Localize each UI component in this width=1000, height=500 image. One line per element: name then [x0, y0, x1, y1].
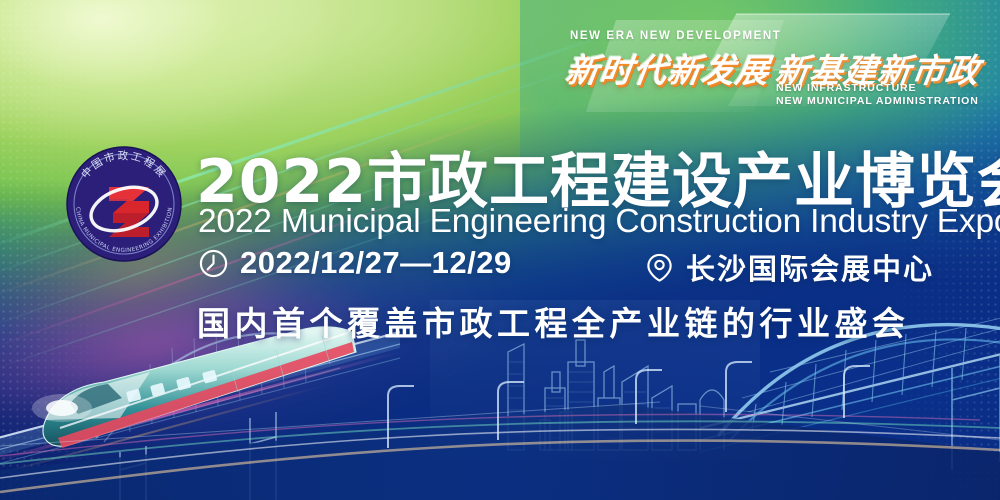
event-banner: NEW ERA NEW DEVELOPMENT 新时代新发展 新基建新市政 NE…: [0, 0, 1000, 500]
top-right-eyebrow: NEW ERA NEW DEVELOPMENT: [570, 30, 781, 42]
event-date: 2022/12/27—12/29: [198, 245, 512, 281]
top-right-headline-block: NEW ERA NEW DEVELOPMENT 新时代新发展 新基建新市政 NE…: [548, 8, 988, 120]
event-meta: 2022/12/27—12/29 长沙国际会展中心: [198, 245, 958, 287]
event-venue-text: 长沙国际会展中心: [686, 246, 934, 288]
location-pin-icon: [644, 252, 675, 283]
event-venue: 长沙国际会展中心: [644, 246, 934, 288]
top-right-subtitle-line2: NEW MUNICIPAL ADMINISTRATION: [776, 95, 979, 108]
clock-icon: [198, 248, 229, 279]
event-date-text: 2022/12/27—12/29: [240, 245, 512, 281]
event-tagline: 国内首个覆盖市政工程全产业链的行业盛会: [197, 297, 910, 345]
top-right-headline-left: 新时代新发展: [563, 44, 774, 92]
top-right-subtitle-line1: NEW INFRASTRUCTURE: [776, 82, 979, 95]
top-right-subtitle: NEW INFRASTRUCTURE NEW MUNICIPAL ADMINIS…: [776, 82, 979, 108]
page-title-en: 2022 Municipal Engineering Construction …: [198, 203, 1000, 241]
event-logo: 中国市政工程展 CHINA MUNICIPAL ENGINEERING EXHI…: [63, 143, 185, 265]
